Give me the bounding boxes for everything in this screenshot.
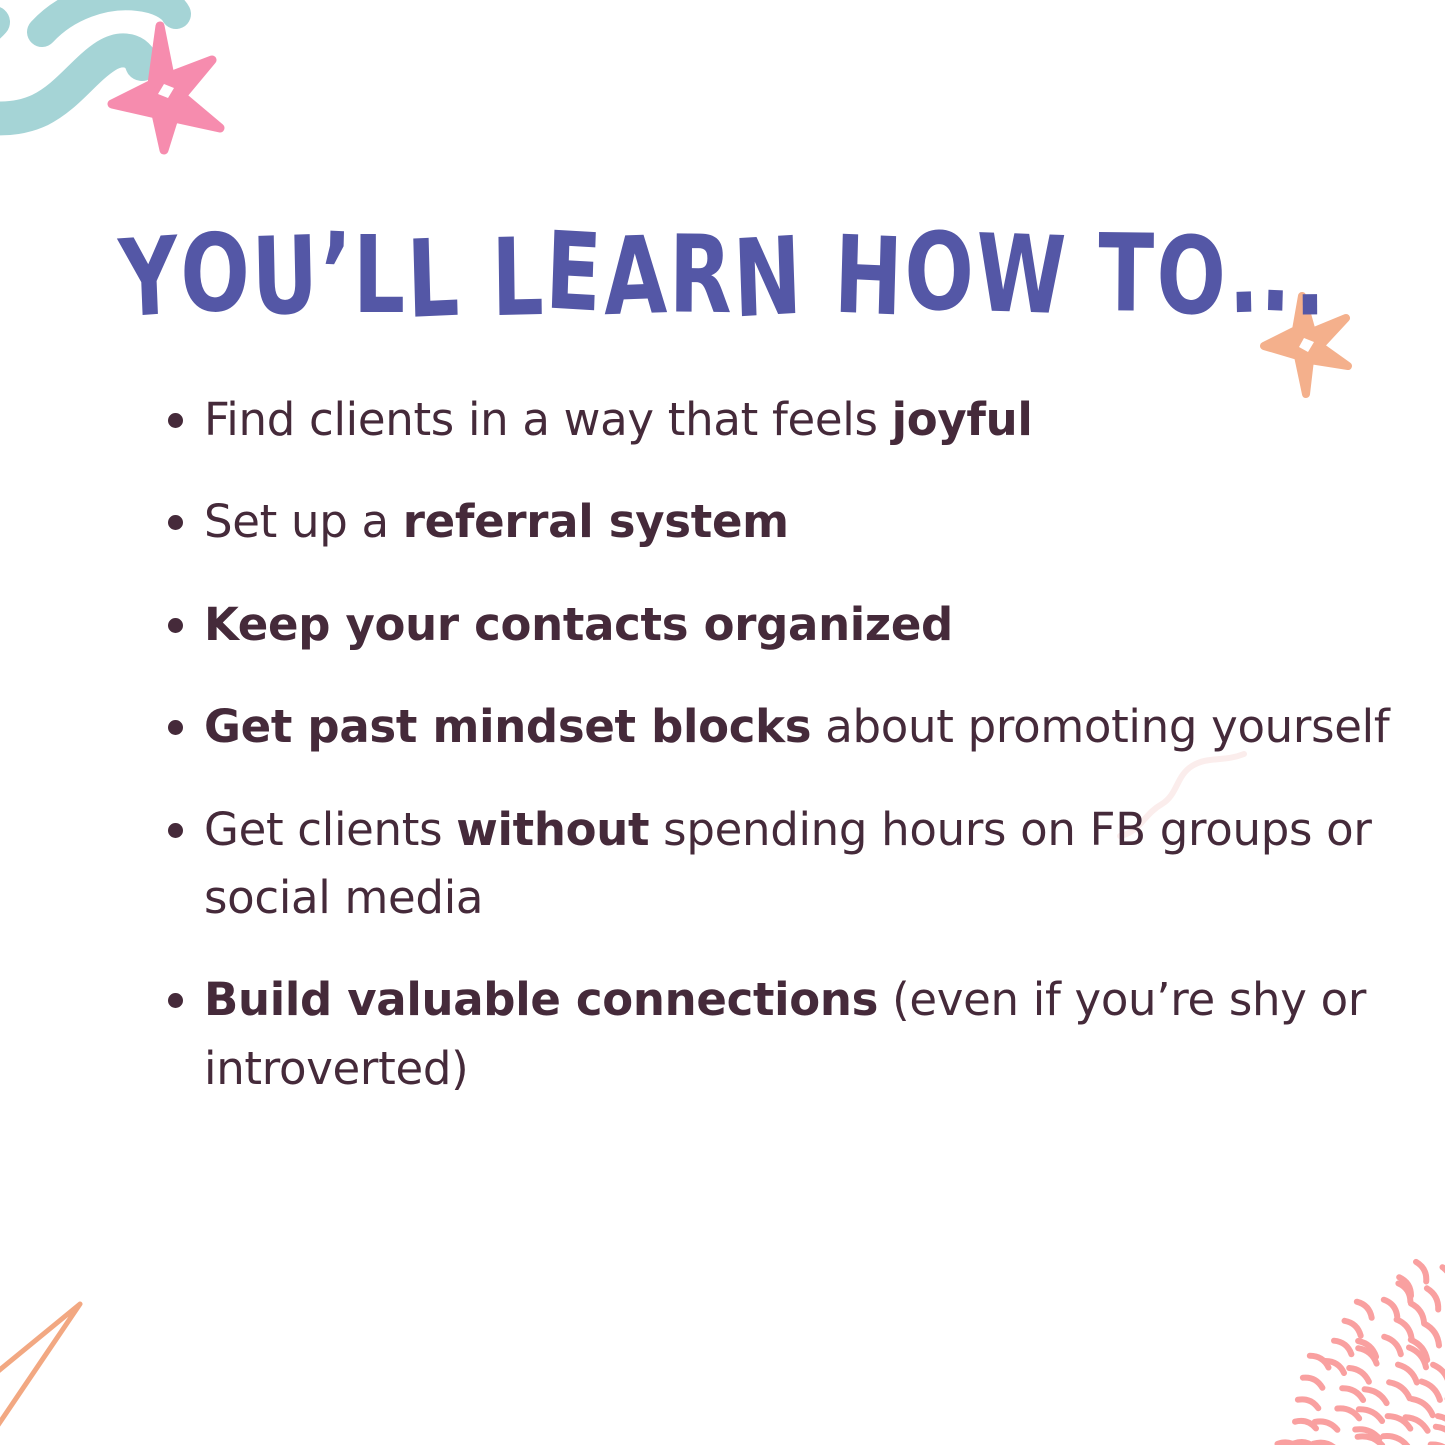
burst-dash xyxy=(1388,1416,1411,1429)
burst-dash xyxy=(1315,1421,1338,1429)
title-char: L xyxy=(353,222,407,329)
title-char: . xyxy=(1226,221,1261,329)
title-char: O xyxy=(1155,222,1228,331)
title-char xyxy=(1066,224,1099,333)
emphasis-text: Build valuable connections xyxy=(204,973,878,1026)
page-title: YOU’LL LEARN HOW TO... xyxy=(119,222,1327,329)
learning-outcomes-list: Find clients in a way that feels joyfulS… xyxy=(160,386,1410,1103)
pink-star-icon xyxy=(108,22,230,154)
burst-dash xyxy=(1412,1399,1432,1415)
bullet-dot-icon xyxy=(168,823,183,838)
burst-dash xyxy=(1303,1378,1323,1388)
burst-dash xyxy=(1345,1321,1361,1336)
burst-dash xyxy=(1425,1324,1439,1346)
burst-dash xyxy=(1310,1356,1329,1368)
bullet-dot-icon xyxy=(168,515,183,530)
emphasis-text: joyful xyxy=(892,393,1033,446)
list-item-mindset-blocks: Get past mindset blocks about promoting … xyxy=(160,693,1410,761)
title-char: O xyxy=(179,219,252,328)
list-item-text: Keep your contacts organized xyxy=(204,591,1410,659)
plain-text: Get clients xyxy=(204,803,456,856)
emphasis-text: Get past mindset blocks xyxy=(204,700,811,753)
teal-squiggle-icon xyxy=(0,0,240,164)
list-item-text: Build valuable connections (even if you’… xyxy=(204,966,1410,1103)
title-char: H xyxy=(832,221,905,331)
title-char: . xyxy=(1259,220,1295,329)
slide-canvas: YOU’LL LEARN HOW TO... Find clients in a… xyxy=(0,0,1445,1445)
plain-text: Set up a xyxy=(204,495,403,548)
title-char: N xyxy=(731,222,805,333)
title-char: L xyxy=(405,224,462,334)
title-char: R xyxy=(668,221,734,329)
title-char: . xyxy=(1293,224,1327,332)
burst-dash xyxy=(1358,1348,1376,1363)
title-char: U xyxy=(250,222,320,332)
list-item-text: Get past mindset blocks about promoting … xyxy=(204,693,1410,761)
burst-dash xyxy=(1398,1283,1410,1301)
burst-dash xyxy=(1438,1416,1445,1431)
burst-dash xyxy=(1422,1382,1440,1400)
pink-sunburst-icon xyxy=(1240,1200,1445,1445)
emphasis-text: Keep your contacts organized xyxy=(204,598,953,651)
list-item-valuable-connections: Build valuable connections (even if you’… xyxy=(160,966,1410,1103)
burst-dash xyxy=(1433,1365,1445,1385)
title-char xyxy=(460,220,493,328)
peach-star-outline-icon xyxy=(0,1268,200,1445)
bullet-dot-icon xyxy=(168,618,183,633)
burst-dash xyxy=(1355,1429,1379,1439)
burst-dash xyxy=(1436,1427,1445,1441)
list-item-text: Find clients in a way that feels joyful xyxy=(204,386,1410,454)
burst-dash xyxy=(1389,1382,1410,1398)
title-char: ’ xyxy=(318,218,354,327)
title-char: A xyxy=(602,222,669,331)
burst-dash xyxy=(1298,1399,1318,1408)
burst-dash xyxy=(1295,1421,1316,1429)
bullet-dot-icon xyxy=(168,720,183,735)
list-item-without-social-media: Get clients without spending hours on FB… xyxy=(160,796,1410,933)
title-char: O xyxy=(903,218,976,327)
list-item-text: Set up a referral system xyxy=(204,488,1410,556)
burst-dash xyxy=(1427,1288,1438,1309)
burst-dash xyxy=(1398,1365,1417,1383)
burst-dash xyxy=(1409,1348,1426,1368)
burst-dash xyxy=(1358,1341,1376,1357)
burst-dash xyxy=(1342,1388,1363,1400)
burst-dash xyxy=(1383,1436,1407,1445)
plain-text: Find clients in a way that feels xyxy=(204,393,892,446)
burst-dash xyxy=(1357,1302,1372,1318)
burst-dash xyxy=(1406,1417,1428,1431)
list-item-contacts-organized: Keep your contacts organized xyxy=(160,591,1410,659)
burst-dash xyxy=(1399,1277,1411,1296)
title-char: Y xyxy=(117,222,182,333)
burst-dash xyxy=(1359,1409,1382,1421)
burst-dash xyxy=(1416,1262,1426,1282)
bullet-dot-icon xyxy=(168,993,183,1008)
title-char: E xyxy=(544,217,605,327)
plain-text: about promoting yourself xyxy=(811,700,1389,753)
burst-dash xyxy=(1326,1361,1345,1373)
list-item-referral-system: Set up a referral system xyxy=(160,488,1410,556)
emphasis-text: without xyxy=(456,803,649,856)
burst-dash xyxy=(1384,1337,1401,1354)
page-title-container: YOU’LL LEARN HOW TO... xyxy=(0,168,1445,355)
title-char: L xyxy=(490,224,545,332)
burst-dash xyxy=(1337,1408,1359,1418)
title-char: T xyxy=(1098,220,1156,328)
burst-dash xyxy=(1349,1368,1369,1382)
burst-dash xyxy=(1384,1300,1398,1317)
burst-dash xyxy=(1334,1341,1351,1355)
burst-dash xyxy=(1411,1303,1424,1323)
burst-dash xyxy=(1365,1389,1387,1403)
burst-dash xyxy=(1411,1340,1427,1360)
list-item-text: Get clients without spending hours on FB… xyxy=(204,796,1410,933)
bullet-dot-icon xyxy=(168,413,183,428)
title-char xyxy=(803,220,835,328)
title-char: W xyxy=(975,220,1069,330)
list-item-find-clients-joyful: Find clients in a way that feels joyful xyxy=(160,386,1410,454)
burst-dash xyxy=(1358,1436,1383,1445)
emphasis-text: referral system xyxy=(403,495,789,548)
burst-dash xyxy=(1397,1320,1412,1339)
